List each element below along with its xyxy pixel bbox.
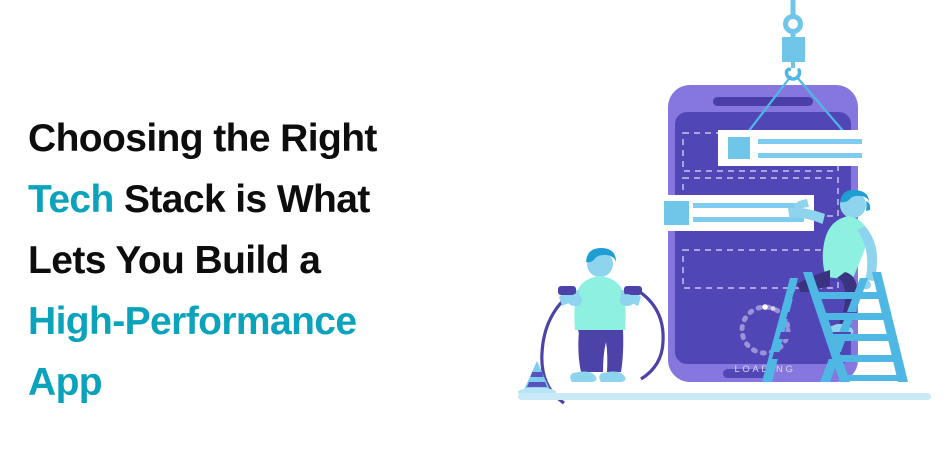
crane-icon	[782, 0, 805, 79]
worker-with-cables	[542, 248, 663, 403]
headline-line-2-rest: Stack is What	[114, 178, 370, 221]
ui-card-top	[718, 130, 870, 166]
card-text-bar	[693, 203, 804, 208]
card-thumbnail	[664, 201, 689, 225]
ground-line	[518, 393, 931, 400]
headline-line-3: Lets You Build a	[28, 230, 468, 291]
headline-line-5: App	[28, 352, 468, 413]
cable-plug	[558, 286, 576, 295]
page-title: Choosing the Right Tech Stack is What Le…	[28, 108, 468, 413]
card-text-bar	[693, 217, 804, 222]
promo-banner: Choosing the Right Tech Stack is What Le…	[0, 0, 950, 450]
card-thumbnail	[728, 137, 750, 159]
phone-speaker	[713, 97, 813, 106]
headline-accent-tech: Tech	[28, 178, 114, 221]
card-text-bar	[758, 139, 862, 144]
illustration-app-development: LOADING	[500, 0, 950, 450]
headline-line-1: Choosing the Right	[28, 108, 468, 169]
card-text-bar	[758, 153, 862, 158]
headline-line-2: Tech Stack is What	[28, 169, 468, 230]
headline-line-4: High-Performance	[28, 291, 468, 352]
cable-plug	[624, 286, 642, 295]
traffic-cone	[518, 361, 556, 397]
